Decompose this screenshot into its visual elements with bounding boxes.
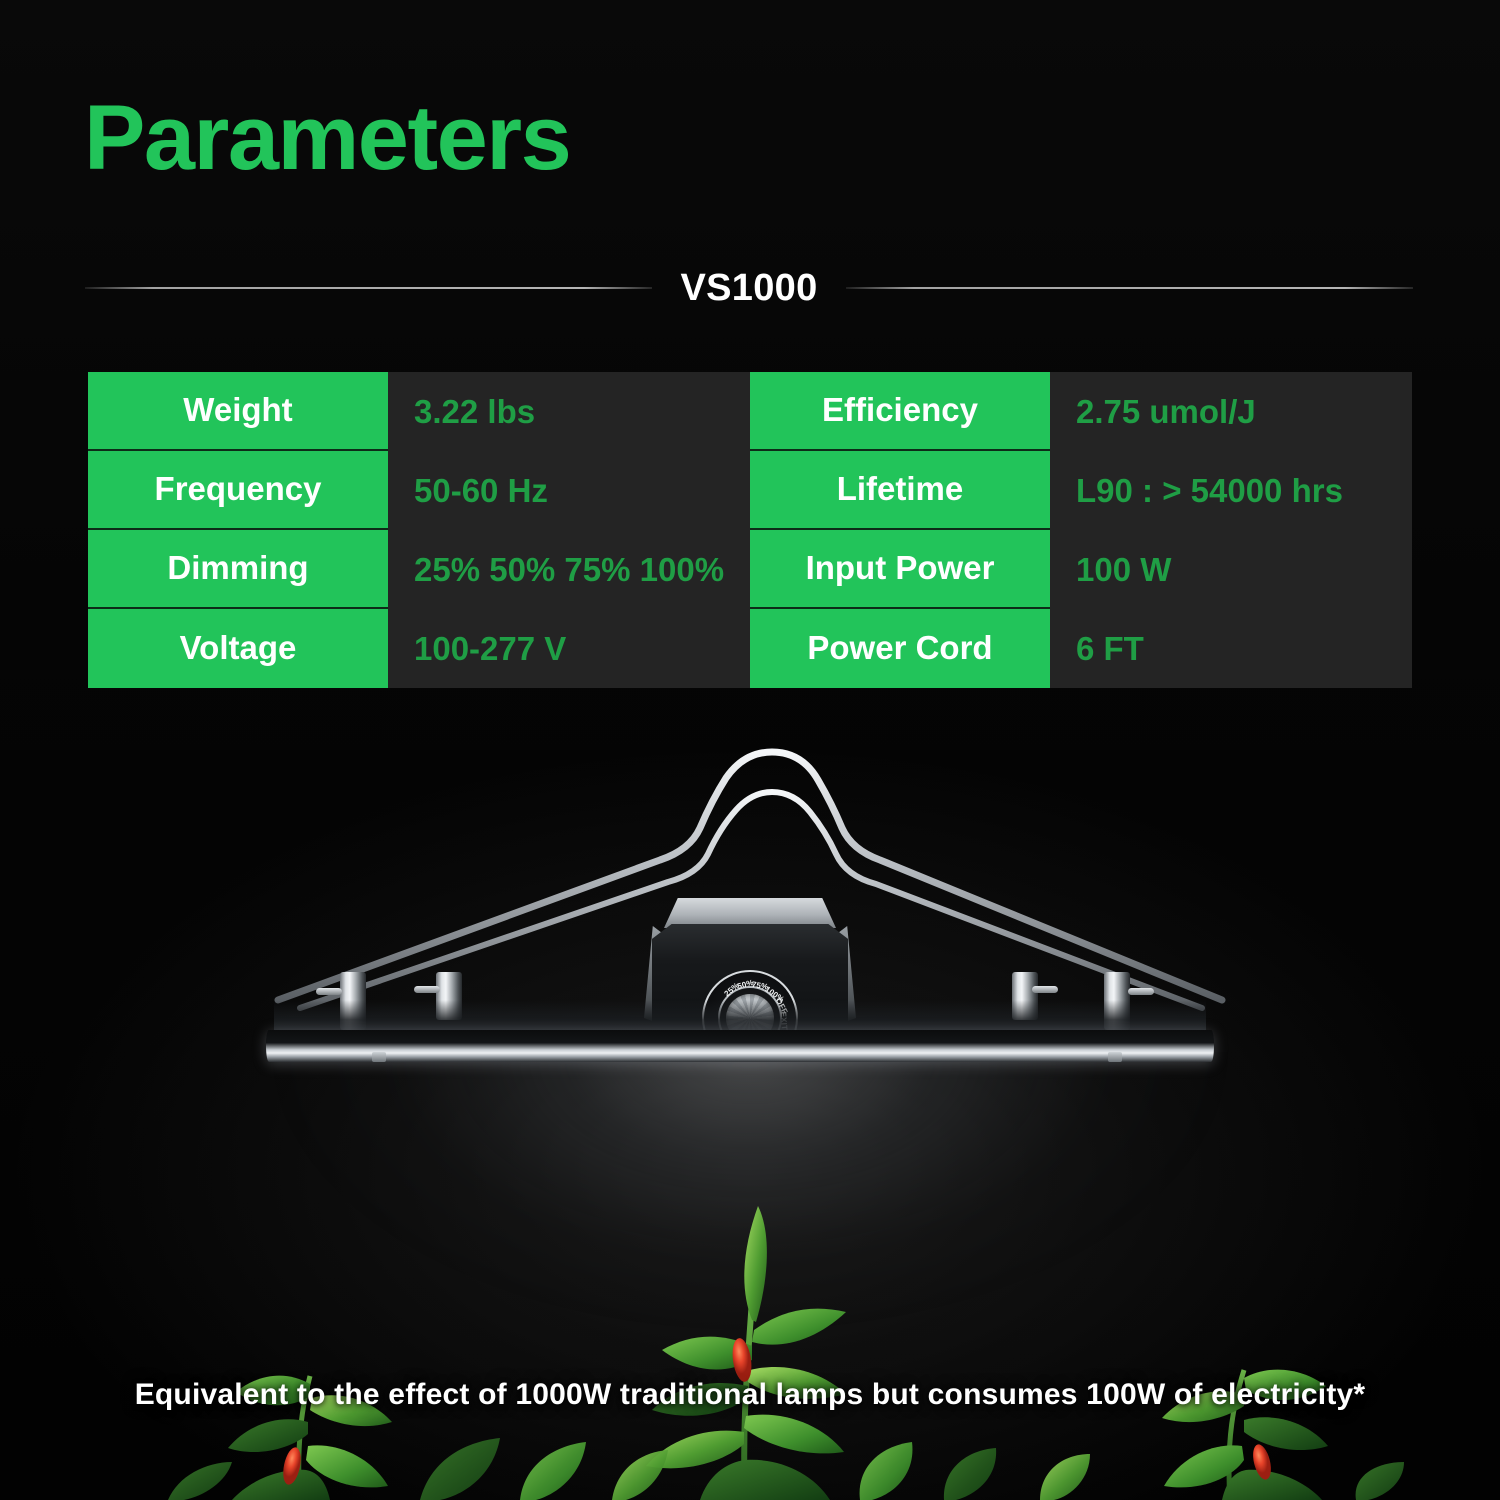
divider-line-right bbox=[846, 287, 1413, 289]
spec-table-right-half: Efficiency 2.75 umol/J Lifetime L90 : > … bbox=[750, 372, 1412, 688]
spec-value: 100-277 V bbox=[388, 609, 750, 688]
table-row: Weight 3.22 lbs bbox=[88, 372, 750, 451]
led-panel-plate bbox=[266, 1030, 1214, 1062]
table-row: Lifetime L90 : > 54000 hrs bbox=[750, 451, 1412, 530]
mounting-lever-right-outer bbox=[1128, 988, 1154, 995]
spec-value: 50-60 Hz bbox=[388, 451, 750, 530]
spec-label: Efficiency bbox=[750, 372, 1050, 451]
footer-caption: Equivalent to the effect of 1000W tradit… bbox=[0, 1378, 1500, 1412]
table-row: Power Cord 6 FT bbox=[750, 609, 1412, 688]
driver-top-cover bbox=[664, 898, 836, 928]
table-row: Frequency 50-60 Hz bbox=[88, 451, 750, 530]
mounting-lever-left-inner bbox=[414, 986, 440, 993]
spec-table-left-half: Weight 3.22 lbs Frequency 50-60 Hz Dimmi… bbox=[88, 372, 750, 688]
spec-value: 100 W bbox=[1050, 530, 1412, 609]
spec-table: Weight 3.22 lbs Frequency 50-60 Hz Dimmi… bbox=[88, 372, 1412, 688]
panel-screw-left bbox=[372, 1052, 386, 1062]
panel-screw-right bbox=[1108, 1052, 1122, 1062]
plant-illustration bbox=[0, 1170, 1500, 1500]
table-row: Efficiency 2.75 umol/J bbox=[750, 372, 1412, 451]
mounting-lever-left-outer bbox=[316, 988, 342, 995]
plant-foliage bbox=[0, 1170, 1500, 1500]
spec-label: Power Cord bbox=[750, 609, 1050, 688]
spec-label: Lifetime bbox=[750, 451, 1050, 530]
table-row: Voltage 100-277 V bbox=[88, 609, 750, 688]
spec-label: Input Power bbox=[750, 530, 1050, 609]
spec-label: Weight bbox=[88, 372, 388, 451]
page-title: Parameters bbox=[84, 92, 570, 184]
spec-label: Voltage bbox=[88, 609, 388, 688]
table-row: Dimming 25% 50% 75% 100% bbox=[88, 530, 750, 609]
spec-value: L90 : > 54000 hrs bbox=[1050, 451, 1412, 530]
spec-value: 3.22 lbs bbox=[388, 372, 750, 451]
product-image: 25% 50% 75% 100% OFF EXIT DIMMING bbox=[0, 700, 1500, 1160]
spec-value: 25% 50% 75% 100% bbox=[388, 530, 750, 609]
table-row: Input Power 100 W bbox=[750, 530, 1412, 609]
model-header-row: VS1000 bbox=[85, 262, 1413, 314]
model-name: VS1000 bbox=[674, 267, 823, 310]
mounting-lever-right-inner bbox=[1032, 986, 1058, 993]
spec-label: Frequency bbox=[88, 451, 388, 530]
parameters-infographic: Parameters VS1000 Weight 3.22 lbs Freque… bbox=[0, 0, 1500, 1500]
spec-label: Dimming bbox=[88, 530, 388, 609]
spec-value: 6 FT bbox=[1050, 609, 1412, 688]
divider-line-left bbox=[85, 287, 652, 289]
spec-value: 2.75 umol/J bbox=[1050, 372, 1412, 451]
